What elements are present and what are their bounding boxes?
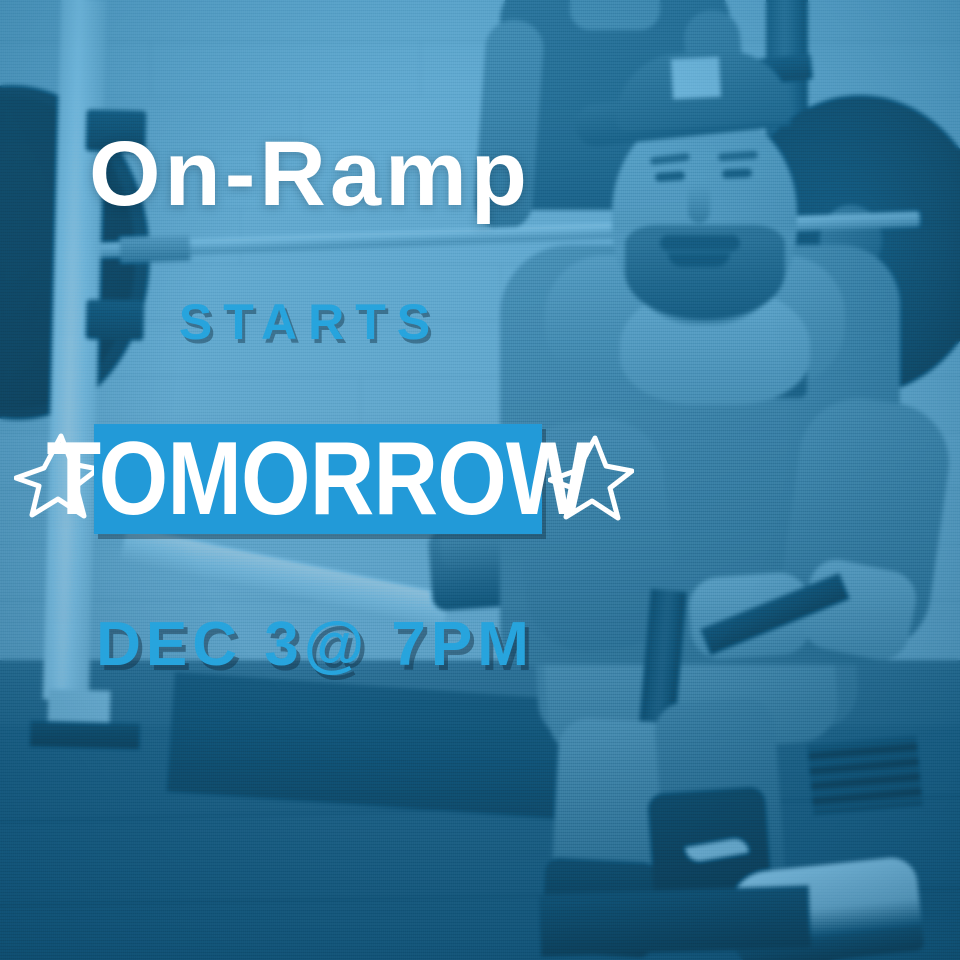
page-title: On-Ramp [0, 128, 620, 220]
kicker-text: STARTS [0, 297, 620, 347]
highlight-text: TOMORROW [125, 424, 510, 534]
highlight-banner: TOMORROW [94, 424, 542, 534]
date-time-text: DEC 3@ 7PM [0, 614, 630, 676]
promo-poster: On-Ramp STARTS TOMORROW DEC 3@ 7PM [0, 0, 960, 960]
star-outline-right-icon [548, 432, 634, 524]
poster-text-layer: On-Ramp STARTS TOMORROW DEC 3@ 7PM [0, 0, 960, 960]
